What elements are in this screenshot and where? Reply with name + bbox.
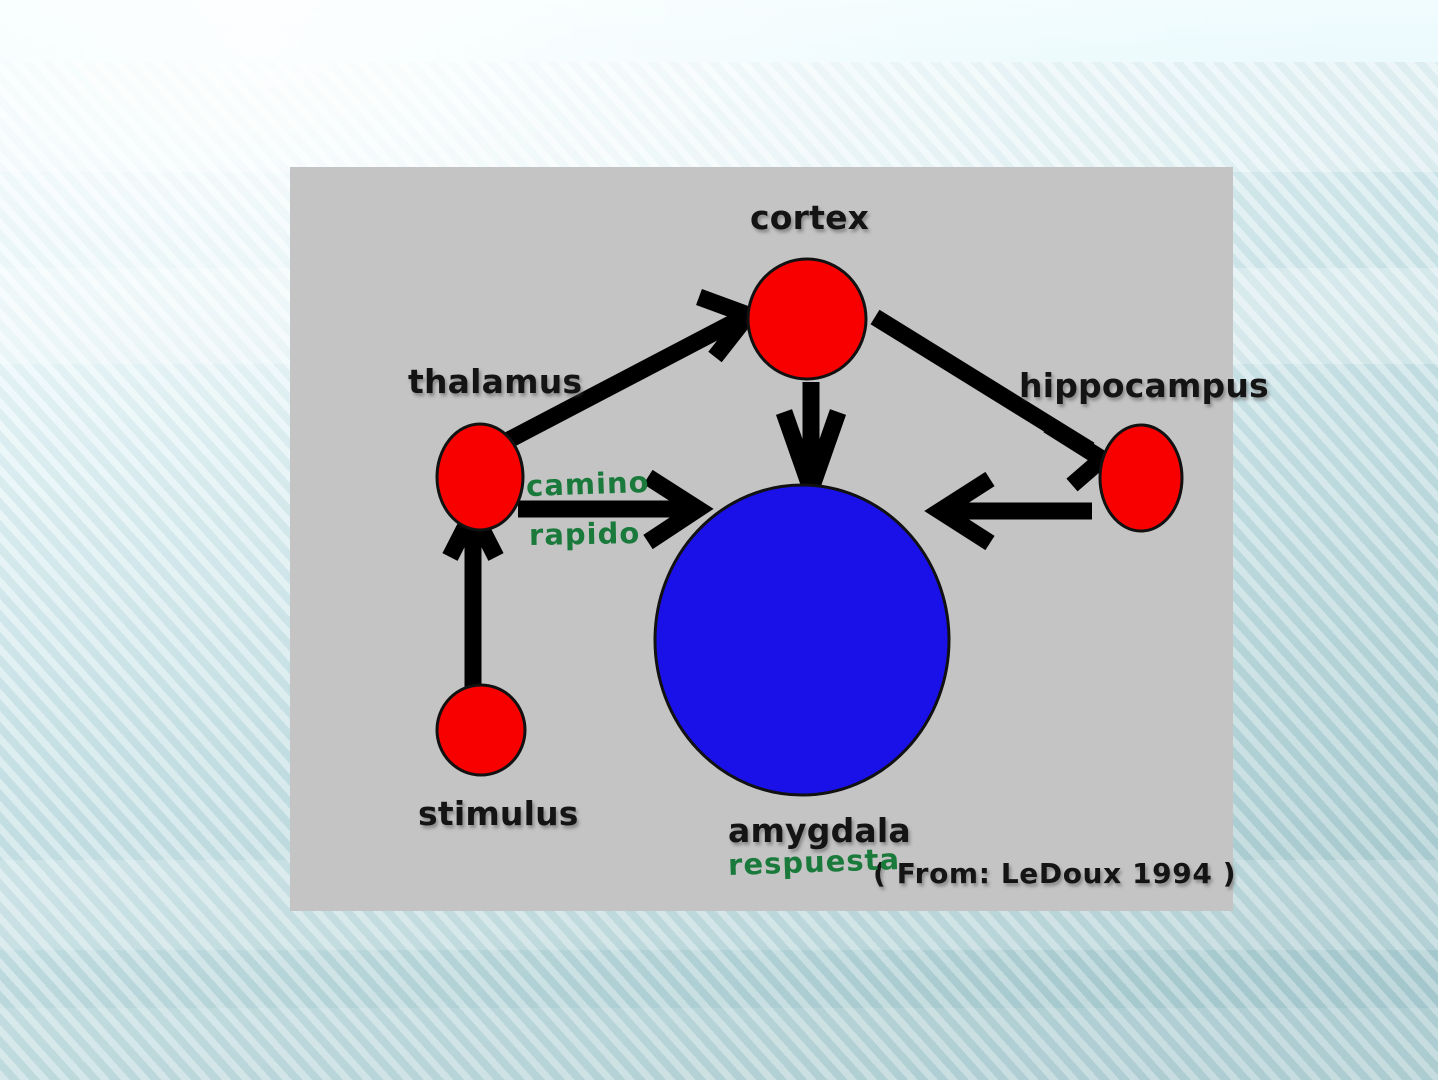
node-stimulus (437, 685, 525, 775)
node-thalamus (437, 424, 523, 530)
figure-source-citation: ( From: LeDoux 1994 ) (873, 857, 1236, 890)
annotation-respuesta: respuesta (727, 842, 900, 882)
arrow-cortex-to-amygdala (784, 382, 838, 489)
node-label-thalamus: thalamus (408, 362, 582, 401)
ledoux-diagram-image[interactable]: cortex thalamus hippocampus stimulus amy… (290, 167, 1233, 911)
node-label-stimulus: stimulus (418, 794, 579, 833)
annotation-camino: camino (525, 465, 650, 503)
node-amygdala (655, 485, 949, 795)
node-hippocampus (1100, 425, 1182, 531)
arrow-hippocampus-to-amygdala (940, 479, 1092, 543)
annotation-rapido: rapido (529, 516, 641, 552)
node-label-cortex: cortex (750, 198, 869, 237)
arrow-stimulus-to-thalamus (450, 512, 496, 687)
presentation-slide: cortex thalamus hippocampus stimulus amy… (0, 0, 1438, 1080)
node-label-hippocampus: hippocampus (1019, 366, 1269, 405)
node-cortex (748, 259, 866, 379)
